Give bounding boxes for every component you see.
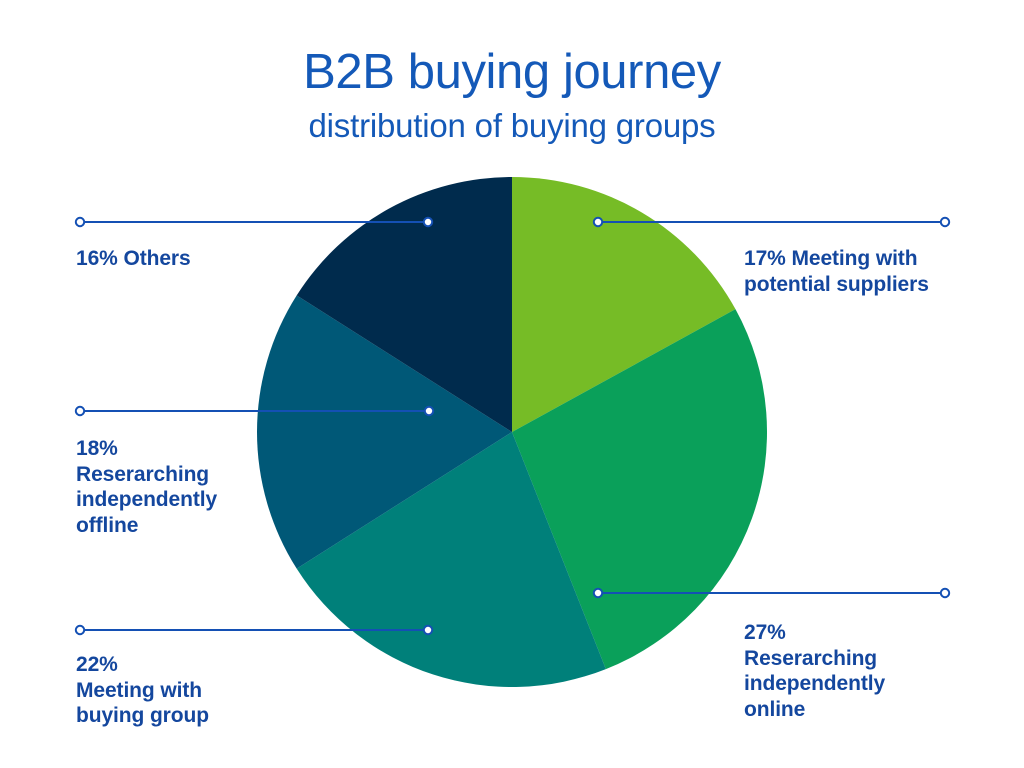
callout-offline-line4: offline <box>76 513 376 539</box>
callout-offline-line2: Reserarching <box>76 462 376 488</box>
callout-meeting-suppliers: 17% Meeting with potential suppliers <box>744 246 1014 297</box>
callout-offline-line1: 18% <box>76 436 376 462</box>
callout-online-line3: independently <box>744 671 1014 697</box>
callout-suppliers-line1: 17% Meeting with <box>744 246 1014 272</box>
callout-offline-line3: independently <box>76 487 376 513</box>
callout-buying-group-line1: 22% <box>76 652 376 678</box>
callout-researching-offline: 18% Reserarching independently offline <box>76 436 376 538</box>
callout-others: 16% Others <box>76 246 376 272</box>
infographic-canvas: B2B buying journey distribution of buyin… <box>0 0 1024 768</box>
callout-others-line1: 16% Others <box>76 246 376 272</box>
title-block: B2B buying journey distribution of buyin… <box>0 42 1024 148</box>
page-title: B2B buying journey <box>0 42 1024 102</box>
callout-buying-group-line2: Meeting with <box>76 678 376 704</box>
callout-suppliers-line2: potential suppliers <box>744 272 1014 298</box>
callout-online-line4: online <box>744 697 1014 723</box>
callout-buying-group-line3: buying group <box>76 703 376 729</box>
callout-researching-online: 27% Reserarching independently online <box>744 620 1014 722</box>
callout-online-line1: 27% <box>744 620 1014 646</box>
callout-meeting-buying-group: 22% Meeting with buying group <box>76 652 376 729</box>
page-subtitle: distribution of buying groups <box>0 104 1024 148</box>
callout-online-line2: Reserarching <box>744 646 1014 672</box>
